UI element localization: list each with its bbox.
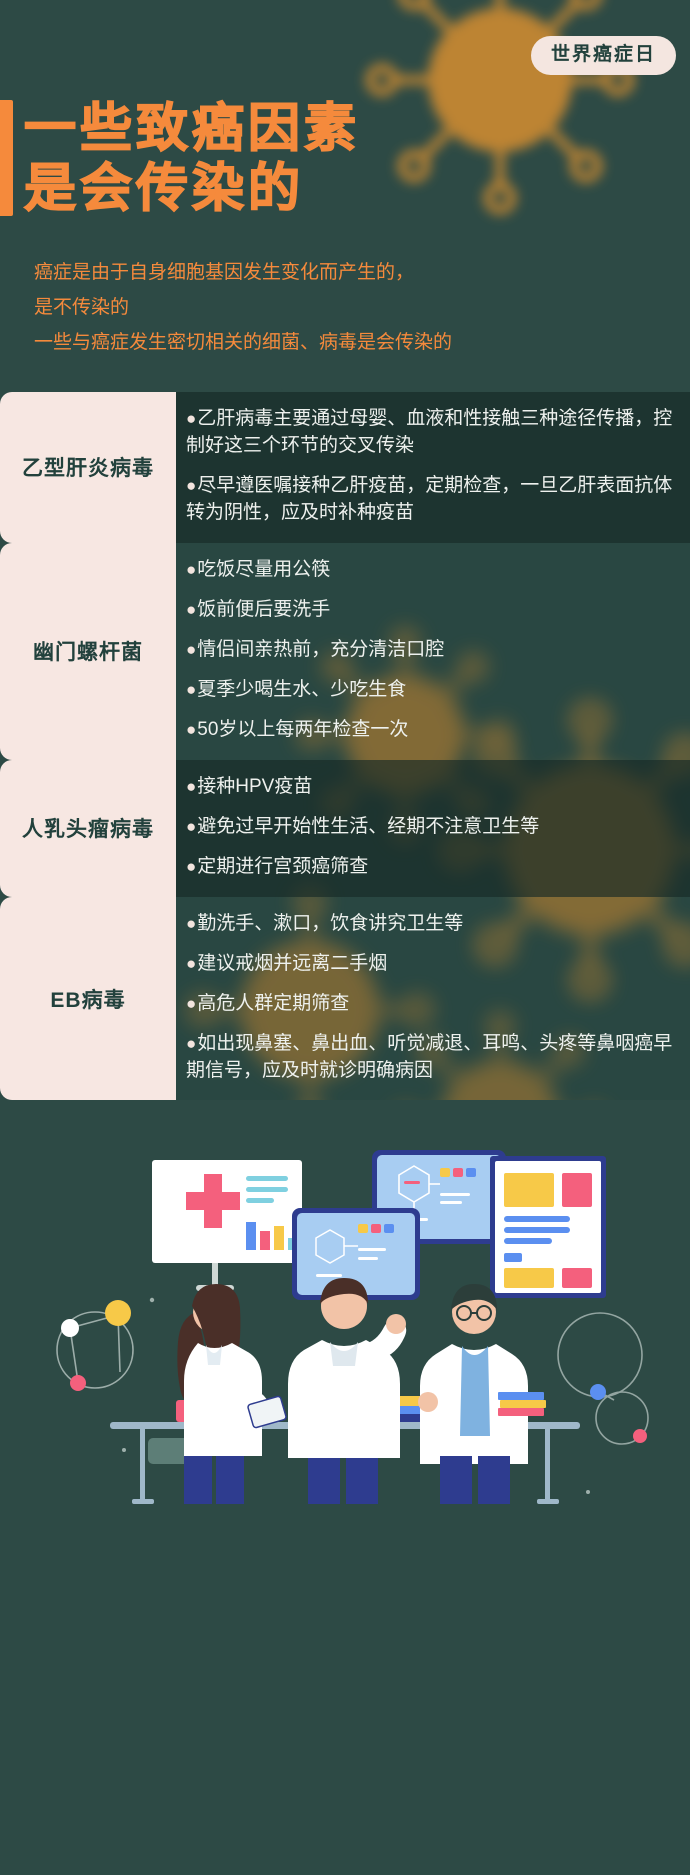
- subtitle-block: 癌症是由于自身细胞基因发生变化而产生的， 是不传染的 一些与癌症发生密切相关的细…: [34, 255, 654, 360]
- list-item-text: 避免过早开始性生活、经期不注意卫生等: [197, 816, 539, 837]
- bullet-dot-icon: ●: [186, 640, 196, 659]
- list-item: ●吃饭尽量用公筷: [186, 557, 678, 584]
- list-item-text: 勤洗手、漱口，饮食讲究卫生等: [197, 913, 463, 934]
- row-body-hepatitis-b: ●乙肝病毒主要通过母婴、血液和性接触三种途径传播，控制好这三个环节的交叉传染 ●…: [176, 392, 690, 543]
- list-item: ●乙肝病毒主要通过母婴、血液和性接触三种途径传播，控制好这三个环节的交叉传染: [186, 406, 678, 460]
- bullet-dot-icon: ●: [186, 1034, 196, 1053]
- table-row: EB病毒 ●勤洗手、漱口，饮食讲究卫生等 ●建议戒烟并远离二手烟 ●高危人群定期…: [0, 897, 690, 1101]
- row-label-helicobacter-pylori: 幽门螺杆菌: [0, 543, 176, 760]
- list-item-text: 吃饭尽量用公筷: [197, 559, 330, 580]
- list-item-text: 情侣间亲热前，充分清洁口腔: [197, 639, 444, 660]
- table-row: 人乳头瘤病毒 ●接种HPV疫苗 ●避免过早开始性生活、经期不注意卫生等 ●定期进…: [0, 760, 690, 897]
- list-item-text: 尽早遵医嘱接种乙肝疫苗，定期检查，一旦乙肝表面抗体转为阴性，应及时补种疫苗: [186, 475, 672, 523]
- molecule-node-icon: [105, 1300, 131, 1326]
- list-item: ●夏季少喝生水、少吃生食: [186, 677, 678, 704]
- list-item: ●勤洗手、漱口，饮食讲究卫生等: [186, 911, 678, 938]
- title-accent-bar: [0, 100, 13, 216]
- board-stand: [212, 1263, 218, 1285]
- list-item: ●如出现鼻塞、鼻出血、听觉减退、耳鸣、头疼等鼻咽癌早期信号，应及时就诊明确病因: [186, 1031, 678, 1085]
- bullet-dot-icon: ●: [186, 857, 196, 876]
- bullet-dot-icon: ●: [186, 560, 196, 579]
- row-body-eb-virus: ●勤洗手、漱口，饮食讲究卫生等 ●建议戒烟并远离二手烟 ●高危人群定期筛查 ●如…: [176, 897, 690, 1101]
- list-item: ●饭前便后要洗手: [186, 597, 678, 624]
- list-item-text: 建议戒烟并远离二手烟: [197, 953, 387, 974]
- list-item: ●避免过早开始性生活、经期不注意卫生等: [186, 814, 678, 841]
- infographic-page: 世界癌症日 一些致癌因素 是会传染的 癌症是由于自身细胞基因发生变化而产生的， …: [0, 0, 690, 1875]
- molecule-node-icon: [633, 1429, 647, 1443]
- world-cancer-day-badge: 世界癌症日: [531, 36, 676, 75]
- list-item-text: 接种HPV疫苗: [197, 776, 312, 797]
- list-item-text: 定期进行宫颈癌筛查: [197, 856, 368, 877]
- molecule-node-icon: [70, 1375, 86, 1391]
- list-item-text: 夏季少喝生水、少吃生食: [197, 679, 406, 700]
- subtitle-line-2: 是不传染的: [34, 290, 654, 325]
- molecule-node-icon: [590, 1384, 606, 1400]
- list-item: ●情侣间亲热前，充分清洁口腔: [186, 637, 678, 664]
- list-item-text: 如出现鼻塞、鼻出血、听觉减退、耳鸣、头疼等鼻咽癌早期信号，应及时就诊明确病因: [186, 1033, 672, 1081]
- subtitle-line-3: 一些与癌症发生密切相关的细菌、病毒是会传染的: [34, 325, 654, 360]
- document-report-board: [490, 1156, 606, 1298]
- row-label-hpv: 人乳头瘤病毒: [0, 760, 176, 897]
- pathogen-table: 乙型肝炎病毒 ●乙肝病毒主要通过母婴、血液和性接触三种途径传播，控制好这三个环节…: [0, 392, 690, 1100]
- list-item: ●尽早遵医嘱接种乙肝疫苗，定期检查，一旦乙肝表面抗体转为阴性，应及时补种疫苗: [186, 473, 678, 527]
- title-line-1: 一些致癌因素: [24, 102, 360, 156]
- row-label-eb-virus: EB病毒: [0, 897, 176, 1101]
- footer-illustration: [0, 1100, 690, 1520]
- page-title: 一些致癌因素 是会传染的: [0, 100, 360, 216]
- row-body-helicobacter-pylori: ●吃饭尽量用公筷 ●饭前便后要洗手 ●情侣间亲热前，充分清洁口腔 ●夏季少喝生水…: [176, 543, 690, 760]
- table-row: 乙型肝炎病毒 ●乙肝病毒主要通过母婴、血液和性接触三种途径传播，控制好这三个环节…: [0, 392, 690, 543]
- bullet-dot-icon: ●: [186, 600, 196, 619]
- bullet-dot-icon: ●: [186, 409, 196, 428]
- bullet-dot-icon: ●: [186, 720, 196, 739]
- title-line-2: 是会传染的: [24, 162, 360, 216]
- row-label-hepatitis-b: 乙型肝炎病毒: [0, 392, 176, 543]
- list-item: ●50岁以上每两年检查一次: [186, 717, 678, 744]
- bullet-dot-icon: ●: [186, 680, 196, 699]
- bullet-dot-icon: ●: [186, 994, 196, 1013]
- list-item-text: 50岁以上每两年检查一次: [197, 719, 408, 740]
- male-doctor-pointing-at-screen: [288, 1278, 406, 1504]
- list-item: ●定期进行宫颈癌筛查: [186, 854, 678, 881]
- medical-team-illustration: [0, 1100, 690, 1520]
- title-lines: 一些致癌因素 是会传染的: [24, 100, 360, 216]
- list-item-text: 乙肝病毒主要通过母婴、血液和性接触三种途径传播，控制好这三个环节的交叉传染: [186, 408, 672, 456]
- bullet-dot-icon: ●: [186, 817, 196, 836]
- list-item: ●高危人群定期筛查: [186, 991, 678, 1018]
- bullet-dot-icon: ●: [186, 476, 196, 495]
- list-item-text: 高危人群定期筛查: [197, 993, 349, 1014]
- list-item: ●建议戒烟并远离二手烟: [186, 951, 678, 978]
- bullet-dot-icon: ●: [186, 777, 196, 796]
- book-stack: [498, 1392, 546, 1416]
- bullet-dot-icon: ●: [186, 914, 196, 933]
- female-doctor-with-tablet: [177, 1284, 286, 1504]
- molecule-node-icon: [61, 1319, 79, 1337]
- table-row: 幽门螺杆菌 ●吃饭尽量用公筷 ●饭前便后要洗手 ●情侣间亲热前，充分清洁口腔 ●…: [0, 543, 690, 760]
- red-cross-chart-board: [152, 1160, 302, 1263]
- list-item-text: 饭前便后要洗手: [197, 599, 330, 620]
- page-header: 世界癌症日 一些致癌因素 是会传染的 癌症是由于自身细胞基因发生变化而产生的， …: [0, 0, 690, 392]
- bullet-dot-icon: ●: [186, 954, 196, 973]
- subtitle-line-1: 癌症是由于自身细胞基因发生变化而产生的，: [34, 255, 654, 290]
- list-item: ●接种HPV疫苗: [186, 774, 678, 801]
- row-body-hpv: ●接种HPV疫苗 ●避免过早开始性生活、经期不注意卫生等 ●定期进行宫颈癌筛查: [176, 760, 690, 897]
